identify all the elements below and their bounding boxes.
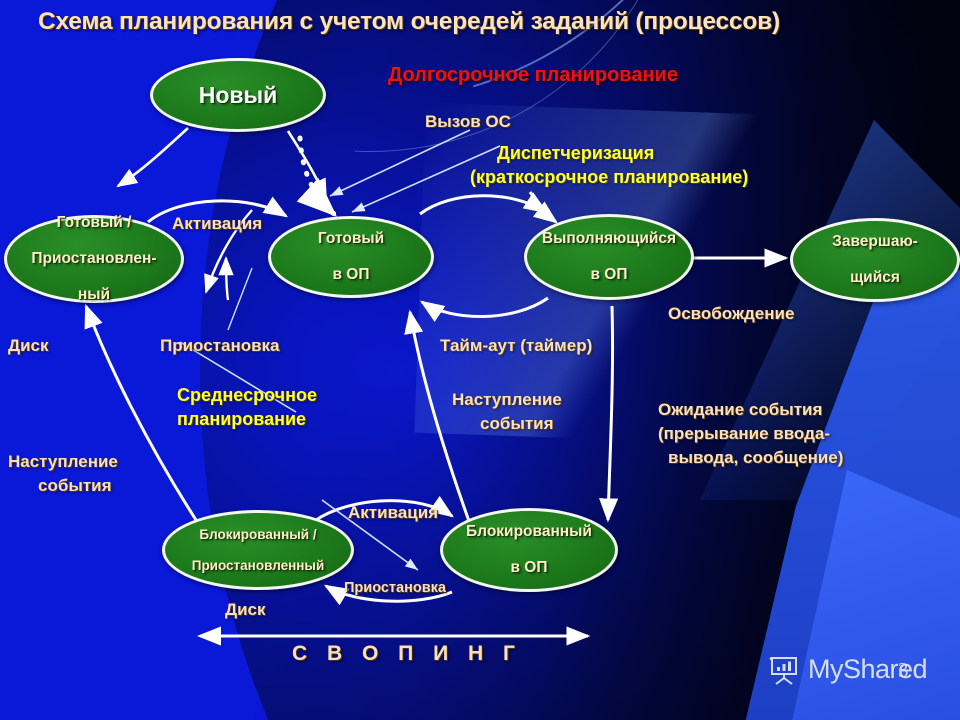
heading-dispatch-line1: Диспетчеризация <box>497 143 654 163</box>
label-swapping: С В О П И Н Г <box>292 642 522 666</box>
node-running-ram-line1: Выполняющийся <box>536 230 682 248</box>
edge-running-to-ready <box>422 298 548 317</box>
label-wait-event-line3: вывода, сообщение) <box>668 448 843 467</box>
slide-title: Схема планирования с учетом очередей зад… <box>38 8 938 36</box>
label-suspend-top: Приостановка <box>160 336 280 355</box>
node-terminating-line1: Завершаю- <box>826 233 924 251</box>
label-disk-bottom: Диск <box>225 600 266 619</box>
leader-os-call <box>330 130 470 196</box>
heading-dispatch-line2: (краткосрочное планирование) <box>470 167 748 187</box>
node-terminating[interactable]: Завершаю- щийся <box>790 218 960 302</box>
watermark-text: MyShared <box>808 654 927 685</box>
label-disk-top: Диск <box>8 336 49 355</box>
heading-mid-term-line2: планирование <box>177 409 306 429</box>
node-ready-suspended-line3: ный <box>25 286 162 304</box>
node-blocked-suspended[interactable]: Блокированный / Приостановленный <box>162 510 354 590</box>
connector-layer <box>0 0 960 720</box>
node-ready-suspended-line2: Приостановлен- <box>25 250 162 268</box>
label-event-mid-line1: Наступление <box>452 390 562 409</box>
node-ready-suspended[interactable]: Готовый / Приостановлен- ный <box>4 215 184 303</box>
edge-new-to-ready-ram <box>288 131 326 198</box>
node-blocked-ram[interactable]: Блокированный в ОП <box>440 508 618 592</box>
node-ready-ram[interactable]: Готовый в ОП <box>268 216 434 298</box>
label-event-left-line1: Наступление <box>8 452 118 471</box>
node-blocked-suspended-line1: Блокированный / <box>186 527 331 543</box>
heading-long-term-planning: Долгосрочное планирование <box>388 64 678 86</box>
leader-suspend-top <box>228 268 252 330</box>
node-ready-ram-line1: Готовый <box>312 230 390 248</box>
label-event-left-line2: события <box>38 476 112 495</box>
slide-canvas: Схема планирования с учетом очередей зад… <box>0 0 960 720</box>
presentation-board-icon <box>768 655 800 685</box>
node-ready-suspended-line1: Готовый / <box>25 214 162 232</box>
label-event-mid-line2: события <box>480 414 554 433</box>
node-new[interactable]: Новый <box>150 58 326 132</box>
edge-new-to-ready-suspended <box>118 128 188 186</box>
node-blocked-ram-line1: Блокированный <box>460 523 598 541</box>
node-ready-ram-line2: в ОП <box>312 266 390 284</box>
node-blocked-suspended-line2: Приостановленный <box>186 558 331 574</box>
label-suspend-bottom: Приостановка <box>344 580 446 596</box>
label-activation-bottom: Активация <box>348 503 438 522</box>
node-running-ram[interactable]: Выполняющийся в ОП <box>524 214 694 300</box>
label-activation-top: Активация <box>172 214 262 233</box>
heading-mid-term-line1: Среднесрочное <box>177 385 317 405</box>
watermark: MyShared <box>768 654 927 685</box>
node-blocked-ram-line2: в ОП <box>460 559 598 577</box>
label-timeout: Тайм-аут (таймер) <box>440 336 592 355</box>
node-new-label: Новый <box>193 82 284 108</box>
edge-activation-feeder <box>226 258 228 300</box>
label-release: Освобождение <box>668 304 794 323</box>
label-wait-event-line1: Ожидание события <box>658 400 822 419</box>
label-wait-event-line2: (прерывание ввода- <box>658 424 830 443</box>
edge-ready-to-running <box>420 196 546 214</box>
node-running-ram-line2: в ОП <box>536 266 682 284</box>
edge-new-dotted-to-ready-ram <box>300 138 334 214</box>
label-os-call: Вызов ОС <box>425 112 511 131</box>
node-terminating-line2: щийся <box>826 269 924 287</box>
edge-running-to-blocked-ram <box>608 306 613 520</box>
